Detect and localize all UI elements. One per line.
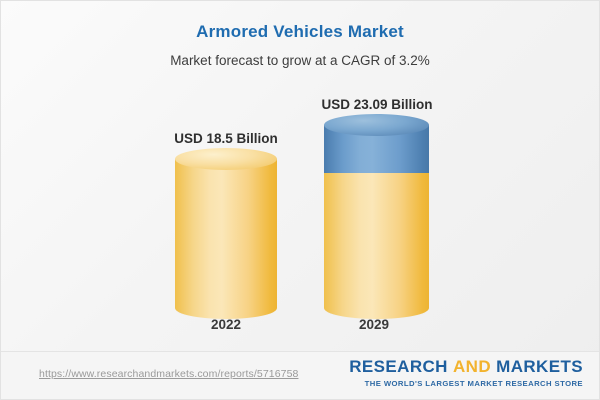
logo-wordmark: RESEARCH AND MARKETS [349, 357, 583, 377]
bar-top-cap-2022 [175, 148, 277, 170]
bar-body-2022 [175, 159, 277, 308]
research-and-markets-logo[interactable]: RESEARCH AND MARKETS THE WORLD'S LARGEST… [349, 357, 583, 388]
logo-tagline: THE WORLD'S LARGEST MARKET RESEARCH STOR… [349, 379, 583, 388]
bar-cylinder-2029 [324, 113, 429, 322]
logo-word-and: AND [453, 357, 496, 376]
value-label-2029: USD 23.09 Billion [267, 97, 487, 112]
category-label-2029: 2029 [264, 317, 484, 332]
bar-top-cap-2029 [324, 114, 429, 136]
chart-plot-area: USD 18.5 Billion 2022 USD 23.09 Billion [1, 1, 600, 353]
footer-bar: https://www.researchandmarkets.com/repor… [1, 351, 599, 399]
value-label-2022: USD 18.5 Billion [116, 131, 336, 146]
bar-body-base-2029 [324, 170, 429, 308]
infographic-card: Armored Vehicles Market Market forecast … [0, 0, 600, 400]
logo-word-markets: MARKETS [496, 357, 583, 376]
logo-word-research: RESEARCH [349, 357, 453, 376]
bar-cylinder-2022 [175, 147, 277, 322]
report-url-link[interactable]: https://www.researchandmarkets.com/repor… [39, 368, 298, 380]
